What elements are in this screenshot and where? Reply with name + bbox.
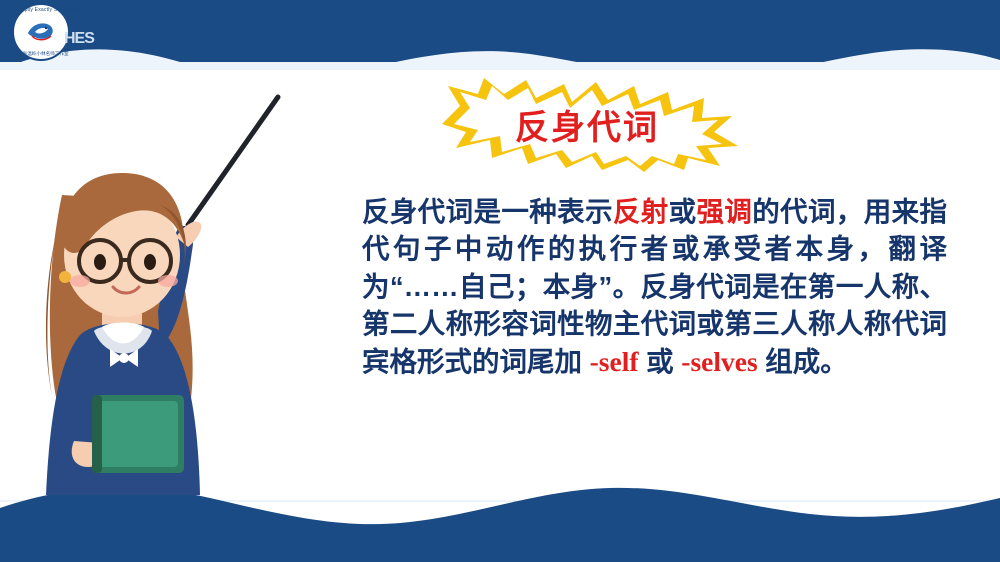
body-seg-2: 或 [669, 196, 697, 227]
character-illustration [10, 65, 300, 495]
body-seg-8: 组成。 [758, 346, 848, 377]
body-seg-5-english: -self [590, 346, 639, 377]
title-burst: 反身代词 [432, 76, 742, 172]
logo-top-text: Happily Exactly Successfully [15, 7, 67, 13]
body-seg-7-english: -selves [681, 346, 757, 377]
logo-bottom-text: 浙江省温岭小林名师工作室 [10, 51, 72, 57]
body-seg-6: 或 [639, 346, 682, 377]
bird-logo-icon [26, 19, 56, 43]
body-seg-1-highlight: 反射 [613, 196, 669, 227]
brand-logo: Happily Exactly Successfully 浙江省温岭小林名师工作… [8, 2, 98, 64]
body-paragraph: 反身代词是一种表示反射或强调的代词，用来指代句子中动作的执行者或承受者本身，翻译… [362, 193, 947, 380]
slide-canvas: Happily Exactly Successfully 浙江省温岭小林名师工作… [0, 0, 1000, 562]
page-title: 反身代词 [432, 76, 742, 172]
logo-side-mark: HES [64, 30, 94, 48]
body-seg-0: 反身代词是一种表示 [362, 196, 613, 227]
body-seg-3-highlight: 强调 [697, 196, 753, 227]
